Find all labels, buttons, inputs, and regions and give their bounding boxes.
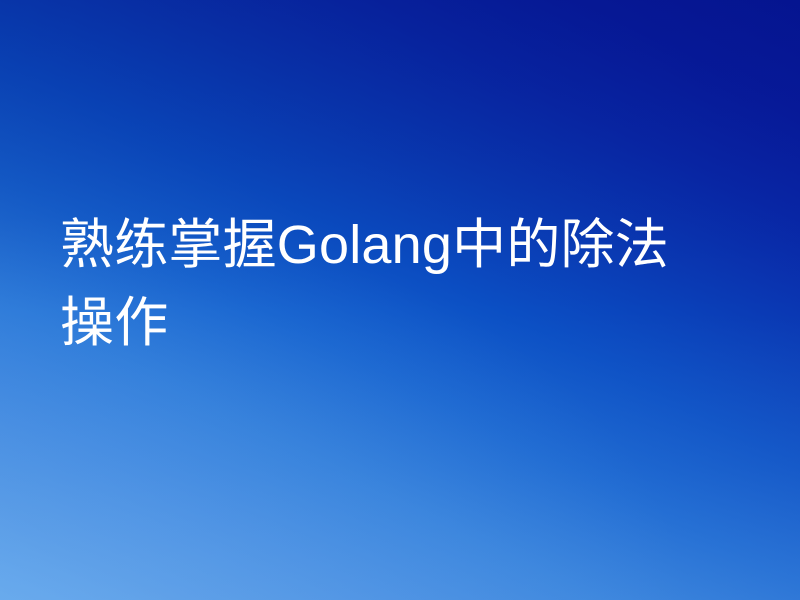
slide-title: 熟练掌握Golang中的除法操作 (60, 206, 708, 362)
title-slide: 熟练掌握Golang中的除法操作 (0, 0, 800, 600)
title-block: 熟练掌握Golang中的除法操作 (60, 206, 708, 362)
